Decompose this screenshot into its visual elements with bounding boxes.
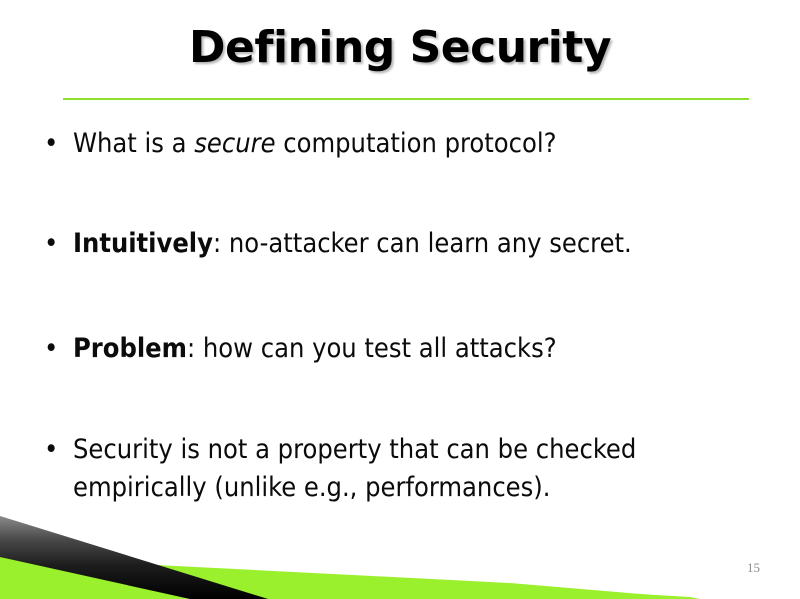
bullet-text: What is a secure computation protocol? bbox=[73, 125, 768, 163]
bullet-segment-emphasis: Problem bbox=[73, 333, 187, 364]
bullet-segment-emphasis: secure bbox=[194, 128, 275, 159]
presentation-slide: Defining Security • What is a secure com… bbox=[0, 0, 800, 599]
list-item: • Problem: how can you test all attacks? bbox=[38, 330, 768, 368]
list-item: • Security is not a property that can be… bbox=[38, 431, 773, 507]
bullet-segment-emphasis: Intuitively bbox=[73, 228, 213, 259]
bullet-marker-icon: • bbox=[44, 225, 58, 263]
bullet-segment: : how can you test all attacks? bbox=[187, 333, 557, 364]
page-title: Defining Security bbox=[0, 22, 800, 73]
bullet-text: Security is not a property that can be c… bbox=[73, 431, 773, 507]
bullet-list: • What is a secure computation protocol?… bbox=[38, 118, 768, 507]
footer-black-wedge-body bbox=[0, 516, 268, 599]
list-item: • What is a secure computation protocol? bbox=[38, 125, 768, 163]
bullet-segment: computation protocol? bbox=[276, 128, 557, 159]
bullet-text: Intuitively: no-attacker can learn any s… bbox=[73, 225, 768, 263]
bullet-marker-icon: • bbox=[44, 431, 58, 469]
list-item: • Intuitively: no-attacker can learn any… bbox=[38, 225, 768, 263]
bullet-segment: : no-attacker can learn any secret. bbox=[213, 228, 632, 259]
footer-green-wedge bbox=[0, 557, 700, 599]
bullet-marker-icon: • bbox=[44, 330, 58, 368]
footer-decoration-graphic bbox=[0, 509, 800, 599]
bullet-text: Problem: how can you test all attacks? bbox=[73, 330, 768, 368]
bullet-segment: What is a bbox=[73, 128, 194, 159]
footer-green-wedge-upper bbox=[0, 557, 700, 599]
bullet-marker-icon: • bbox=[44, 125, 58, 163]
title-divider bbox=[63, 98, 749, 100]
footer-black-wedge bbox=[0, 516, 268, 599]
page-number: 15 bbox=[747, 560, 760, 576]
